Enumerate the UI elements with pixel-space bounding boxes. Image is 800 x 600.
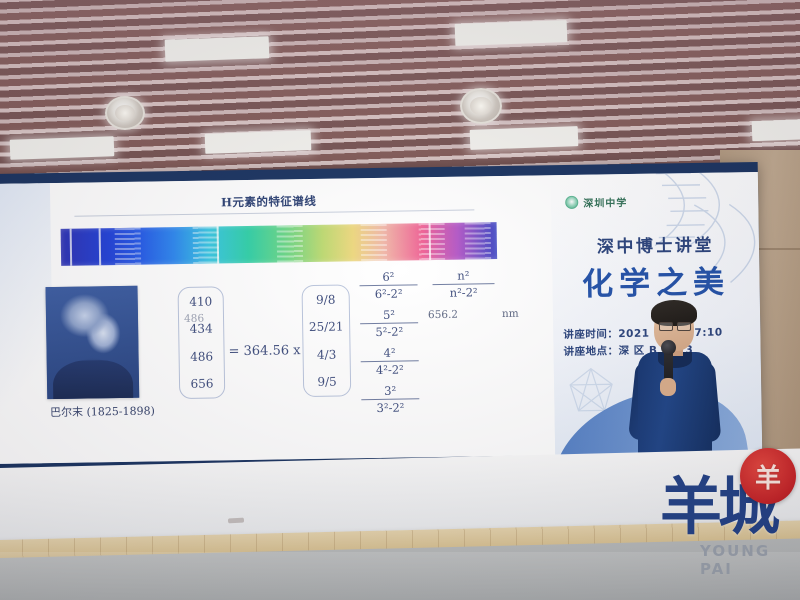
- fraction-6-den: 6²-2²: [360, 287, 418, 302]
- presentation-slide: H元素的特征谱线 4: [0, 175, 555, 464]
- spectrum-hatch: [419, 223, 446, 260]
- yangcheng-watermark: 羊城 羊 YOUNG PAI: [660, 448, 800, 588]
- ratio-25-21: 25/21: [309, 320, 344, 335]
- ceiling-panel-light: [470, 126, 579, 150]
- school-logo: 深圳中学: [565, 194, 627, 210]
- presenter-glasses-left-lens: [659, 322, 673, 331]
- emission-line-434: [99, 228, 101, 265]
- wavelength-486: 486: [190, 349, 213, 363]
- portrait-shoulder: [53, 360, 134, 399]
- fraction-3-num: 3²: [361, 383, 419, 398]
- presenter-jacket: [638, 352, 712, 462]
- watermark-seal-glyph: 羊: [740, 448, 796, 504]
- fraction-6: 6² 6²-2²: [359, 269, 417, 302]
- fraction-3-den: 3²-2²: [361, 401, 419, 416]
- school-logo-text: 深圳中学: [583, 194, 627, 210]
- wavelength-column: 410 434 486 656: [178, 286, 226, 399]
- ratio-column: 9/8 25/21 4/3 9/5: [302, 284, 352, 397]
- watermark-seal: 羊: [740, 448, 796, 504]
- equation-constant: = 364.56 x: [228, 343, 300, 359]
- balmer-formula: 410 434 486 656 = 364.56 x 9/8 25/21 4/3…: [177, 273, 554, 439]
- ratio-9-5: 9/5: [317, 375, 337, 389]
- spectrum-hatch: [277, 225, 304, 262]
- school-logo-mark-icon: [565, 196, 578, 209]
- fraction-5: 5² 5²-2²: [360, 307, 418, 340]
- ceiling-spot-light: [460, 88, 502, 124]
- spectrum-gradient-bar: [61, 222, 498, 266]
- ceiling-panel-light: [165, 36, 270, 62]
- wavelength-656: 656: [190, 377, 213, 391]
- ceiling-panel-light: [205, 130, 312, 154]
- microphone-head-icon: [661, 340, 676, 355]
- presenter-hand: [660, 378, 676, 396]
- watermark-latin-text: YOUNG PAI: [700, 542, 800, 578]
- banner-subtitle: 深中博士讲堂: [552, 230, 759, 258]
- spectrum-hatch: [361, 224, 388, 261]
- fraction-n-den: n²-2²: [433, 285, 495, 300]
- spectrum-hatch: [465, 222, 492, 259]
- ratio-4-3: 4/3: [317, 347, 337, 361]
- fraction-5-num: 5²: [360, 307, 418, 322]
- banner-main-title: 化学之美: [552, 256, 760, 304]
- balmer-portrait: [46, 286, 140, 399]
- fraction-4-den: 4²-2²: [361, 363, 419, 378]
- wavelength-434: 434: [190, 322, 213, 336]
- spectrum-hatch: [115, 228, 142, 265]
- ceiling-spot-light: [105, 96, 145, 130]
- fraction-3: 3² 3²-2²: [361, 383, 419, 416]
- spectrum-hatch: [193, 226, 220, 263]
- fraction-6-num: 6²: [359, 269, 417, 284]
- fraction-5-den: 5²-2²: [360, 325, 418, 340]
- screenshot-root: 深中博士讲堂 化学之美 讲座时间：2021 5:50-17:10 讲座地点：深 …: [0, 0, 800, 600]
- portrait-caption: 巴尔末 (1825-1898): [27, 402, 177, 420]
- wavelength-410: 410: [189, 294, 212, 308]
- fraction-n-num: n²: [432, 268, 494, 283]
- ceiling-panel-light: [752, 119, 800, 141]
- presenter-glasses-right-lens: [677, 322, 691, 331]
- fraction-4-num: 4²: [360, 345, 418, 360]
- ratio-9-8: 9/8: [316, 292, 336, 306]
- fraction-4: 4² 4²-2²: [360, 345, 418, 378]
- stage-scuff-mark: [228, 518, 244, 524]
- ceiling-panel-light: [455, 20, 568, 46]
- emission-line-410: [70, 229, 72, 266]
- hydrogen-spectrum: 410.1 434 486 656.2 nm: [61, 222, 498, 266]
- fraction-general-n: n² n²-2²: [432, 268, 494, 301]
- ceiling-panel-light: [10, 136, 115, 160]
